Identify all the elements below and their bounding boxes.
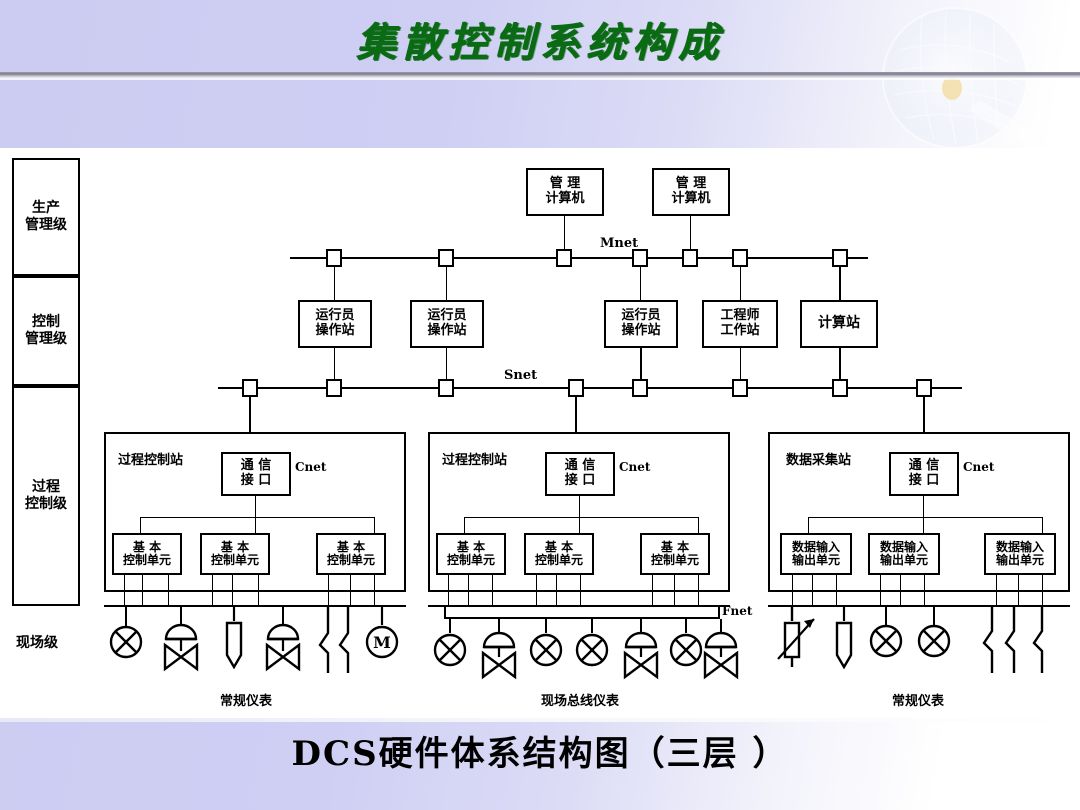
unit-line2: 控制单元 [327, 554, 375, 567]
area-3-cnet-branch-3 [1042, 517, 1043, 533]
snet-node-6 [732, 379, 748, 397]
unit-line1: 基 本 [221, 541, 249, 554]
motor-label: M [373, 633, 391, 652]
snet-node-3 [438, 379, 454, 397]
mnet-drop-compute [839, 267, 841, 300]
unit-line2: 控制单元 [123, 554, 171, 567]
a3u2-riser-1 [880, 575, 881, 605]
flow-sensor-icon-a3-1 [864, 607, 908, 667]
flow-sensor-icon-a2-3 [570, 619, 614, 675]
comm-interface-line2: 接 口 [241, 474, 272, 489]
control-valve-icon-a1-1 [156, 607, 206, 673]
a1u1-riser-1 [124, 575, 125, 605]
flow-sensor-icon-a2-2 [524, 619, 568, 675]
mnet-node-4 [632, 249, 648, 267]
a1u2-riser-2 [232, 575, 233, 605]
station-line1: 工程师 [720, 309, 759, 324]
unit-line1: 基 本 [545, 541, 573, 554]
level-box-production-management: 生产 管理级 [12, 158, 80, 276]
a2u3-riser-2 [674, 575, 675, 605]
unit-line2: 输出单元 [996, 554, 1044, 567]
wire-break-icon-a1 [318, 607, 362, 673]
area-3-data-io-unit-2: 数据输入 输出单元 [868, 533, 940, 575]
a2u1-riser-1 [448, 575, 449, 605]
area-1-comm-interface: 通 信 接 口 [221, 452, 291, 496]
a3u1-riser-1 [792, 575, 793, 605]
mnet-node-5 [682, 249, 698, 267]
level-label-line1: 过程 [32, 479, 60, 497]
station-line1: 运行员 [621, 309, 660, 324]
area-2-basic-control-unit-3: 基 本 控制单元 [640, 533, 710, 575]
area-1-cnet-branch-1 [140, 517, 141, 533]
area-2-basic-control-unit-1: 基 本 控制单元 [436, 533, 506, 575]
temperature-probe-icon-a1 [218, 607, 250, 673]
a2u2-riser-3 [580, 575, 581, 605]
flow-sensor-icon-a1-1 [104, 607, 148, 667]
mnet-drop-operator-1 [334, 267, 335, 300]
unit-line2: 输出单元 [880, 554, 928, 567]
slide-header: 集散控制系统构成 [0, 0, 1080, 78]
unit-line1: 数据输入 [996, 541, 1044, 554]
area-2-basic-control-unit-2: 基 本 控制单元 [524, 533, 594, 575]
operator-station-1: 运行员 操作站 [298, 300, 372, 348]
mnet-node-3 [556, 249, 572, 267]
unit-line1: 基 本 [661, 541, 689, 554]
header-divider-highlight [0, 78, 1080, 80]
unit-line1: 基 本 [337, 541, 365, 554]
station-line2: 操作站 [315, 324, 354, 339]
area-3-cnet-bar [808, 517, 1042, 518]
compute-station: 计算站 [800, 300, 878, 348]
engineer-workstation: 工程师 工作站 [702, 300, 778, 348]
station-line2: 工作站 [720, 324, 759, 339]
comm-interface-line2: 接 口 [909, 474, 940, 489]
area-1-cnet-bar [140, 517, 374, 518]
a1u3-riser-3 [374, 575, 375, 605]
a1u3-riser-2 [350, 575, 351, 605]
area-1-title: 过程控制站 [118, 449, 183, 468]
area-2-cnet-branch-2 [579, 517, 580, 533]
a3u1-riser-2 [812, 575, 813, 605]
snet-node-8 [916, 379, 932, 397]
a1u2-riser-1 [212, 575, 213, 605]
mnet-node-2 [438, 249, 454, 267]
a2u3-riser-3 [698, 575, 699, 605]
unit-line1: 数据输入 [792, 541, 840, 554]
a2u1-riser-3 [492, 575, 493, 605]
a1u1-riser-3 [168, 575, 169, 605]
mgmt-computer-line1: 管 理 [676, 177, 707, 192]
comm-interface-line1: 通 信 [909, 459, 940, 474]
mnet-bus-line [290, 257, 868, 259]
area-3-cnet-branch-1 [808, 517, 809, 533]
unit-line2: 控制单元 [651, 554, 699, 567]
area-3-data-io-unit-3: 数据输入 输出单元 [984, 533, 1056, 575]
temperature-probe-icon-a3 [828, 607, 860, 673]
area-3-cnet-branch-2 [923, 517, 924, 533]
a2u1-riser-2 [468, 575, 469, 605]
management-computer-1: 管 理 计算机 [526, 168, 604, 216]
level-label-line2: 控制级 [25, 496, 67, 514]
level-label-line1: 控制 [32, 314, 60, 332]
flow-sensor-icon-a2-1 [428, 619, 472, 675]
unit-line1: 数据输入 [880, 541, 928, 554]
area-2-title: 过程控制站 [442, 449, 507, 468]
snet-node-1 [242, 379, 258, 397]
fnet-label: Fnet [722, 604, 752, 618]
a1u1-riser-2 [142, 575, 143, 605]
area-2-comm-interface: 通 信 接 口 [545, 452, 615, 496]
control-valve-icon-a2-1 [474, 619, 524, 681]
mnet-drop-operator-3 [640, 267, 641, 300]
mnet-node-7 [832, 249, 848, 267]
area-3-cnet-label: Cnet [963, 460, 994, 474]
a3u3-riser-1 [996, 575, 997, 605]
a3u2-riser-2 [900, 575, 901, 605]
snet-node-5 [632, 379, 648, 397]
snet-label: Snet [504, 368, 537, 383]
a2u3-riser-1 [652, 575, 653, 605]
field-group-label-3: 常规仪表 [858, 690, 978, 709]
motor-icon-a1: M [360, 607, 404, 669]
unit-line2: 控制单元 [447, 554, 495, 567]
station-line1: 计算站 [818, 316, 860, 332]
a2u2-riser-2 [556, 575, 557, 605]
area-1-basic-control-unit-3: 基 本 控制单元 [316, 533, 386, 575]
station-line2: 操作站 [427, 324, 466, 339]
a3u3-riser-2 [1018, 575, 1019, 605]
area-3-title: 数据采集站 [786, 449, 851, 468]
mnet-drop-engineer [740, 267, 741, 300]
area-1-basic-control-unit-1: 基 本 控制单元 [112, 533, 182, 575]
a1u3-riser-1 [328, 575, 329, 605]
a3u3-riser-3 [1042, 575, 1043, 605]
wire-break-icon-a3 [982, 607, 1052, 673]
thermocouple-icon-a3 [776, 607, 824, 669]
management-computer-2: 管 理 计算机 [652, 168, 730, 216]
snet-node-7 [832, 379, 848, 397]
comm-interface-line1: 通 信 [241, 459, 272, 474]
fnet-left-riser [444, 605, 446, 617]
area-1-cnet-branch-3 [374, 517, 375, 533]
a3u2-riser-3 [924, 575, 925, 605]
mnet-node-1 [326, 249, 342, 267]
area-2-cnet-branch-1 [464, 517, 465, 533]
area-3-data-io-unit-1: 数据输入 输出单元 [780, 533, 852, 575]
area-1-cnet-stem [255, 496, 256, 518]
page-title: 集散控制系统构成 [0, 10, 1080, 68]
flow-sensor-icon-a3-2 [912, 607, 956, 667]
station-line1: 运行员 [315, 309, 354, 324]
fnet-right-riser [718, 605, 720, 617]
level-label-line1: 生产 [32, 200, 60, 218]
area-1-basic-control-unit-2: 基 本 控制单元 [200, 533, 270, 575]
footer-divider [0, 718, 1080, 722]
mnet-node-6 [732, 249, 748, 267]
field-group-label-1: 常规仪表 [186, 690, 306, 709]
area-1-cnet-branch-2 [255, 517, 256, 533]
level-label-field: 现场级 [16, 632, 58, 652]
a1u2-riser-3 [258, 575, 259, 605]
area-2-cnet-bar [464, 517, 698, 518]
control-valve-icon-a2-2 [616, 619, 666, 681]
unit-line1: 基 本 [457, 541, 485, 554]
level-label-line2: 管理级 [25, 217, 67, 235]
station-line1: 运行员 [427, 309, 466, 324]
mgmt-computer-line2: 计算机 [545, 192, 584, 207]
level-box-control-management: 控制 管理级 [12, 276, 80, 386]
mgmt-computer-line1: 管 理 [550, 177, 581, 192]
comm-interface-line1: 通 信 [565, 459, 596, 474]
unit-line2: 控制单元 [211, 554, 259, 567]
level-label-line2: 管理级 [25, 331, 67, 349]
station-line2: 操作站 [621, 324, 660, 339]
comm-interface-line2: 接 口 [565, 474, 596, 489]
area-2-cnet-label: Cnet [619, 460, 650, 474]
mnet-drop-operator-2 [446, 267, 447, 300]
control-valve-icon-a1-2 [258, 607, 308, 673]
mgmt-computer-line2: 计算机 [671, 192, 710, 207]
level-box-process-control: 过程 控制级 [12, 386, 80, 606]
area-3-cnet-stem [923, 496, 924, 518]
area-3-comm-interface: 通 信 接 口 [889, 452, 959, 496]
field-group-label-2: 现场总线仪表 [500, 690, 660, 709]
slide-caption: DCS硬件体系结构图（三层 ） [0, 726, 1080, 775]
area-2-cnet-branch-3 [698, 517, 699, 533]
a2u2-riser-1 [536, 575, 537, 605]
area-2-cnet-stem [579, 496, 580, 518]
area-1-cnet-label: Cnet [295, 460, 326, 474]
snet-node-4 [568, 379, 584, 397]
field-bus-area-2-upper [428, 605, 730, 607]
slide-root: 集散控制系统构成 生产 管理级 控制 管理级 过程 控制级 现场级 管 理 计算… [0, 0, 1080, 810]
unit-line2: 输出单元 [792, 554, 840, 567]
operator-station-2: 运行员 操作站 [410, 300, 484, 348]
unit-line1: 基 本 [133, 541, 161, 554]
snet-node-2 [326, 379, 342, 397]
control-valve-icon-a2-3 [696, 619, 746, 681]
a3u1-riser-3 [836, 575, 837, 605]
operator-station-3: 运行员 操作站 [604, 300, 678, 348]
unit-line2: 控制单元 [535, 554, 583, 567]
